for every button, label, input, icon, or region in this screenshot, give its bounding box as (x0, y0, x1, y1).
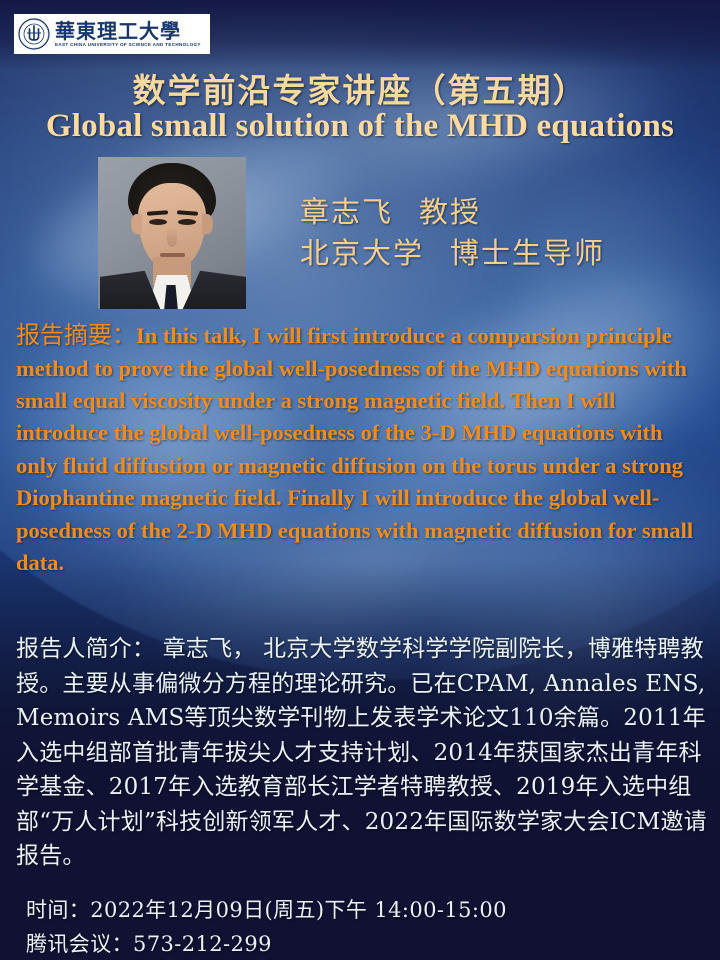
speaker-name: 章志飞 (300, 195, 393, 229)
poster-title-chinese: 数学前沿专家讲座（第五期） (0, 64, 720, 112)
logo-english-name: EAST CHINA UNIVERSITY OF SCIENCE AND TEC… (55, 43, 201, 48)
event-details: 时间：2022年12月09日(周五)下午 14:00-15:00 腾讯会议：57… (26, 893, 507, 960)
logo-wordmark: 華東理工大學 EAST CHINA UNIVERSITY OF SCIENCE … (55, 21, 201, 48)
speaker-affiliation: 北京大学 (300, 236, 424, 270)
speaker-name-line: 章志飞教授 (300, 192, 605, 233)
speaker-rank: 教授 (419, 195, 481, 229)
speaker-portrait-photo (98, 157, 246, 309)
meeting-id: 腾讯会议：573-212-299 (26, 927, 507, 960)
abstract-block: 报告摘要：In this talk, I will first introduc… (16, 318, 706, 579)
abstract-body: In this talk, I will first introduce a c… (16, 323, 693, 575)
poster-title-english: Global small solution of the MHD equatio… (0, 108, 720, 145)
portrait-eye-left (149, 219, 167, 225)
lecture-poster: 華東理工大學 EAST CHINA UNIVERSITY OF SCIENCE … (0, 0, 720, 960)
speaker-affiliation-line: 北京大学博士生导师 (300, 233, 605, 274)
portrait-ear-right (202, 214, 213, 234)
speaker-role: 博士生导师 (450, 236, 605, 270)
portrait-nose (167, 227, 177, 247)
portrait-ear-left (131, 214, 142, 234)
logo-chinese-name: 華東理工大學 (55, 21, 201, 41)
event-time: 时间：2022年12月09日(周五)下午 14:00-15:00 (26, 893, 507, 927)
portrait-eye-right (178, 219, 196, 225)
abstract-label: 报告摘要： (16, 321, 136, 349)
speaker-biography: 报告人简介： 章志飞， 北京大学数学科学学院副院长，博雅特聘教授。主要从事偏微分… (16, 632, 714, 874)
university-seal-icon (18, 18, 50, 50)
university-logo: 華東理工大學 EAST CHINA UNIVERSITY OF SCIENCE … (14, 14, 210, 54)
speaker-info: 章志飞教授 北京大学博士生导师 (300, 192, 605, 274)
